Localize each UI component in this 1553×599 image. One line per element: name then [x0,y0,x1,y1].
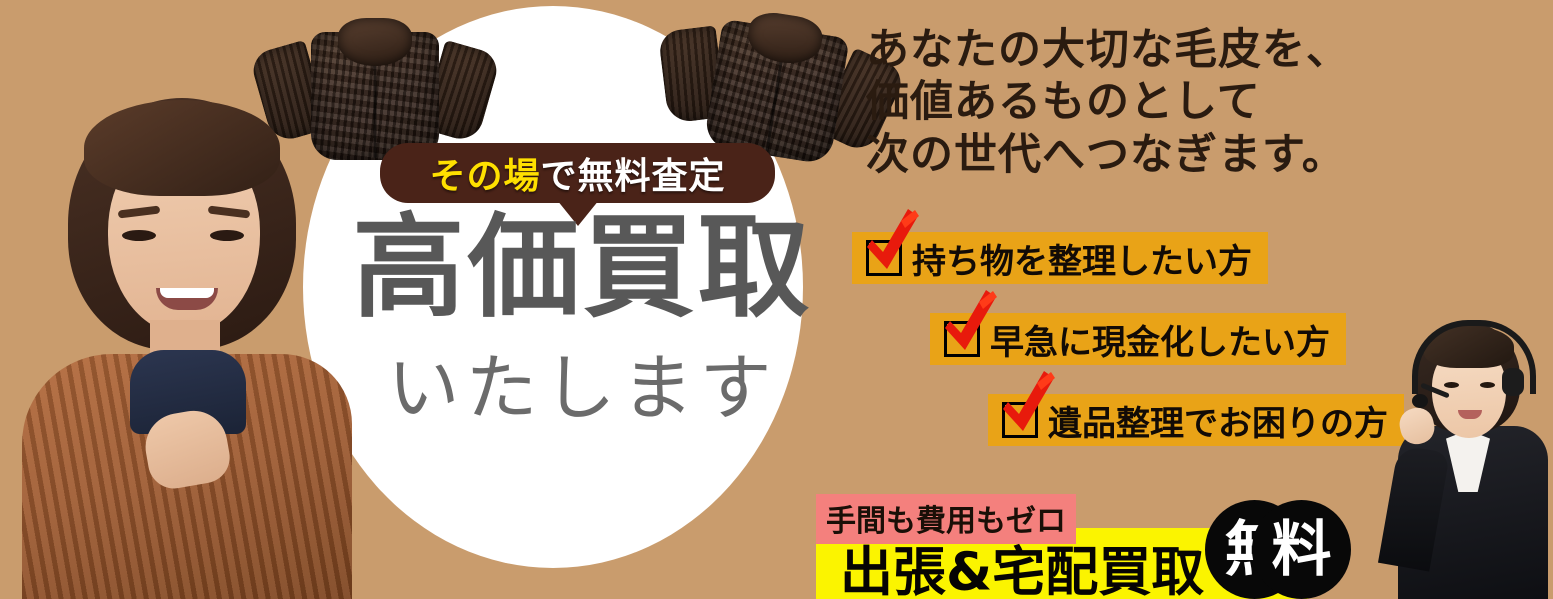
checklist-item-1: 持ち物を整理したい方 [852,232,1268,284]
model-eye-left [122,230,156,241]
free-badge-circle-2: 料 [1252,500,1351,599]
checklist-item-3: 遺品整理でお困りの方 [988,394,1404,446]
checklist-label-3: 遺品整理でお困りの方 [1048,396,1388,445]
tagline-line-2: 価値あるものとして [866,76,1350,128]
badge-text-yellow: その場 [429,147,540,199]
checkbox-icon [1002,402,1038,438]
free-badge-char-2: 料 [1272,520,1332,580]
tagline-block: あなたの大切な毛皮を、 価値あるものとして 次の世代へつなぎます。 [866,24,1350,181]
senior-woman-photo [22,92,352,599]
badge-text-white: で無料査定 [541,147,726,199]
delivery-banner-text: 出張&宅配買取 [840,530,1204,599]
free-appraisal-badge: その場 で無料査定 [380,143,775,203]
checklist-item-2: 早急に現金化したい方 [930,313,1346,365]
tagline-line-1: あなたの大切な毛皮を、 [866,24,1350,76]
headset-microphone [1412,394,1428,408]
checklist-label-2: 早急に現金化したい方 [990,315,1330,364]
coat-collar [338,18,412,66]
model-teeth [160,288,214,298]
headset-earcup [1502,368,1524,396]
checkbox-icon [866,240,902,276]
headline-main: 高価買取 [330,212,835,324]
model-fringe [84,100,280,196]
checklist-label-1: 持ち物を整理したい方 [912,234,1252,283]
tagline-line-3: 次の世代へつなぎます。 [866,129,1350,181]
fur-purchase-banner: その場 で無料査定 高価買取 いたします あなたの大切な毛皮を、 価値あるものと… [0,0,1553,599]
model-eye-right [210,230,244,241]
call-center-operator-photo [1390,322,1553,599]
free-badge: 無 料 [1205,500,1351,599]
headline-sub: いたします [330,352,835,424]
checkbox-icon [944,321,980,357]
